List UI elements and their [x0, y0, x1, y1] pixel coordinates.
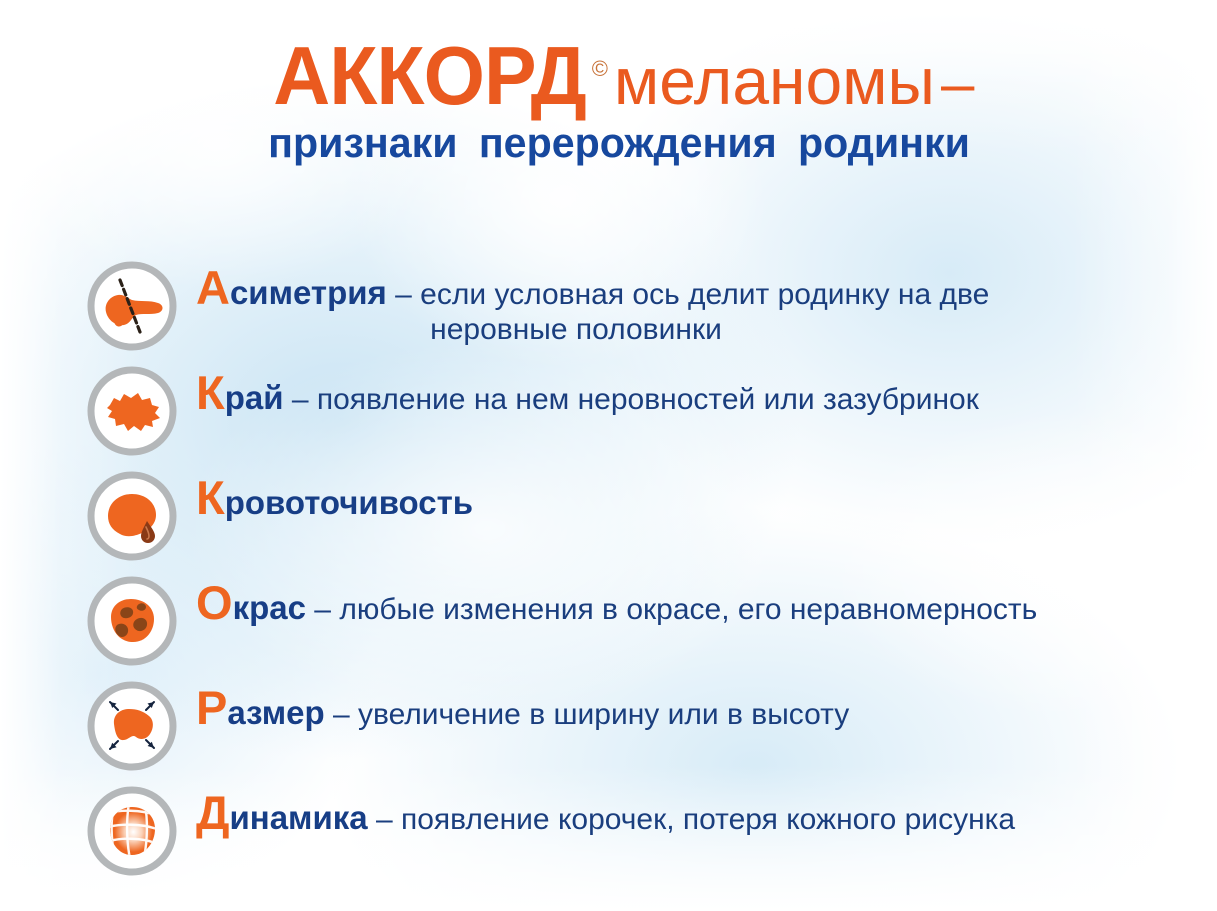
criteria-text: Динамика – появление корочек, потеря кож… [196, 789, 1096, 837]
criteria-text: Асиметрия – если условная ось делит роди… [196, 264, 1096, 347]
criteria-word: крас [233, 589, 306, 626]
list-item: Кровоточивость [0, 468, 1217, 573]
page-subtitle: признаки перерождения родинки [269, 122, 971, 164]
criteria-word: рай [225, 379, 284, 416]
poster-header: АККОРД©меланомы– признаки перерождения р… [0, 34, 1217, 164]
growing-size-mole-icon [86, 680, 178, 772]
criteria-word: азмер [227, 694, 324, 731]
title-secondary: меланомы [614, 44, 935, 118]
criteria-initial: К [196, 471, 225, 524]
uneven-color-mole-icon [86, 575, 178, 667]
page-title: АККОРД [273, 34, 586, 117]
criteria-description: увеличение в ширину или в высоту [358, 698, 849, 731]
list-item: Край – появление на нем неровностей или … [0, 363, 1217, 468]
criteria-word: симетрия [230, 274, 387, 311]
criteria-text: Размер – увеличение в ширину или в высот… [196, 684, 1096, 732]
criteria-initial: Д [196, 786, 229, 839]
list-item: Размер – увеличение в ширину или в высот… [0, 678, 1217, 783]
list-item: Асиметрия – если условная ось делит роди… [0, 258, 1217, 363]
criteria-text: Край – появление на нем неровностей или … [196, 369, 1096, 417]
criteria-initial: К [196, 366, 225, 419]
criteria-initial: Р [196, 681, 227, 734]
criteria-initial: А [196, 261, 230, 314]
asymmetry-mole-icon [86, 260, 178, 352]
criteria-description-line2: неровные половинки [196, 313, 956, 347]
criteria-text: Кровоточивость [196, 474, 1096, 522]
poster-canvas: АККОРД©меланомы– признаки перерождения р… [0, 0, 1217, 911]
title-line: АККОРД©меланомы– [22, 34, 1217, 117]
list-item: Динамика – появление корочек, потеря кож… [0, 783, 1217, 888]
list-item: Окрас – любые изменения в окрасе, его не… [0, 573, 1217, 678]
criteria-word: ровоточивость [225, 484, 473, 521]
criteria-text: Окрас – любые изменения в окрасе, его не… [196, 579, 1096, 627]
criteria-description: появление корочек, потеря кожного рисунк… [401, 803, 1015, 836]
crust-texture-mole-icon [86, 785, 178, 877]
bleeding-mole-icon [86, 470, 178, 562]
criteria-list: Асиметрия – если условная ось делит роди… [0, 258, 1217, 888]
criteria-description: любые изменения в окрасе, его неравномер… [339, 593, 1037, 626]
copyright-symbol: © [592, 56, 608, 81]
criteria-dash: – [387, 278, 420, 311]
criteria-dash: – [306, 593, 339, 626]
criteria-initial: О [196, 576, 233, 629]
criteria-description: появление на нем неровностей или зазубри… [317, 383, 979, 416]
criteria-word: инамика [229, 799, 367, 836]
title-dash: – [941, 50, 974, 117]
subtitle-line: признаки перерождения родинки [22, 122, 1217, 164]
criteria-description: если условная ось делит родинку на две [420, 278, 989, 311]
criteria-dash: – [368, 803, 401, 836]
criteria-dash: – [284, 383, 317, 416]
jagged-border-mole-icon [86, 365, 178, 457]
criteria-dash: – [325, 698, 358, 731]
